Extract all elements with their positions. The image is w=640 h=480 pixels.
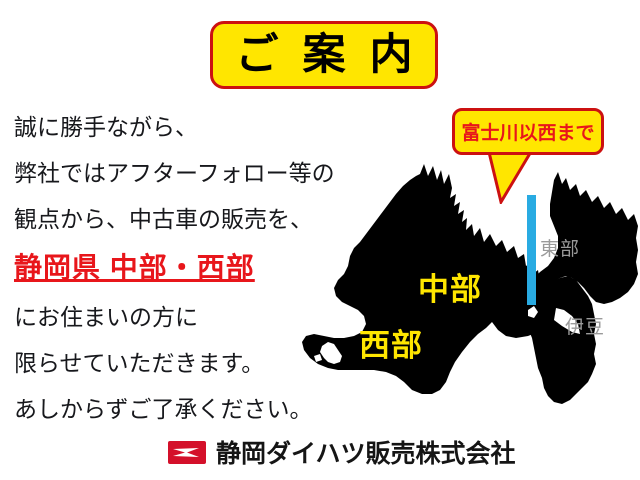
callout-bubble: 富士川以西まで — [452, 108, 604, 155]
footer-company-line: 静岡ダイハツ販売株式会社 — [168, 434, 516, 470]
slide-canvas: ご 案 内 誠に勝手ながら、 弊社ではアフターフォロー等の 観点から、中古車の販… — [0, 0, 640, 480]
shizuoka-map: 中部 西部 東部 伊豆 — [300, 150, 640, 420]
header-banner: ご 案 内 — [210, 21, 438, 89]
map-label-seibu: 西部 — [359, 330, 423, 361]
company-name: 静岡ダイハツ販売株式会社 — [216, 434, 516, 470]
callout-tail-icon — [488, 148, 550, 204]
daihatsu-logo-icon — [168, 441, 206, 464]
body-line-1: 誠に勝手ながら、 — [14, 104, 364, 150]
callout-fujigawa: 富士川以西まで — [452, 108, 604, 155]
fujigawa-boundary-line — [527, 195, 536, 305]
daihatsu-swoosh-icon — [173, 448, 201, 457]
page-title: ご 案 内 — [230, 34, 419, 77]
map-label-tobu: 東部 — [540, 240, 580, 259]
map-label-izu: 伊豆 — [565, 318, 605, 337]
callout-text: 富士川以西まで — [461, 118, 594, 145]
map-label-chubu: 中部 — [418, 274, 482, 305]
